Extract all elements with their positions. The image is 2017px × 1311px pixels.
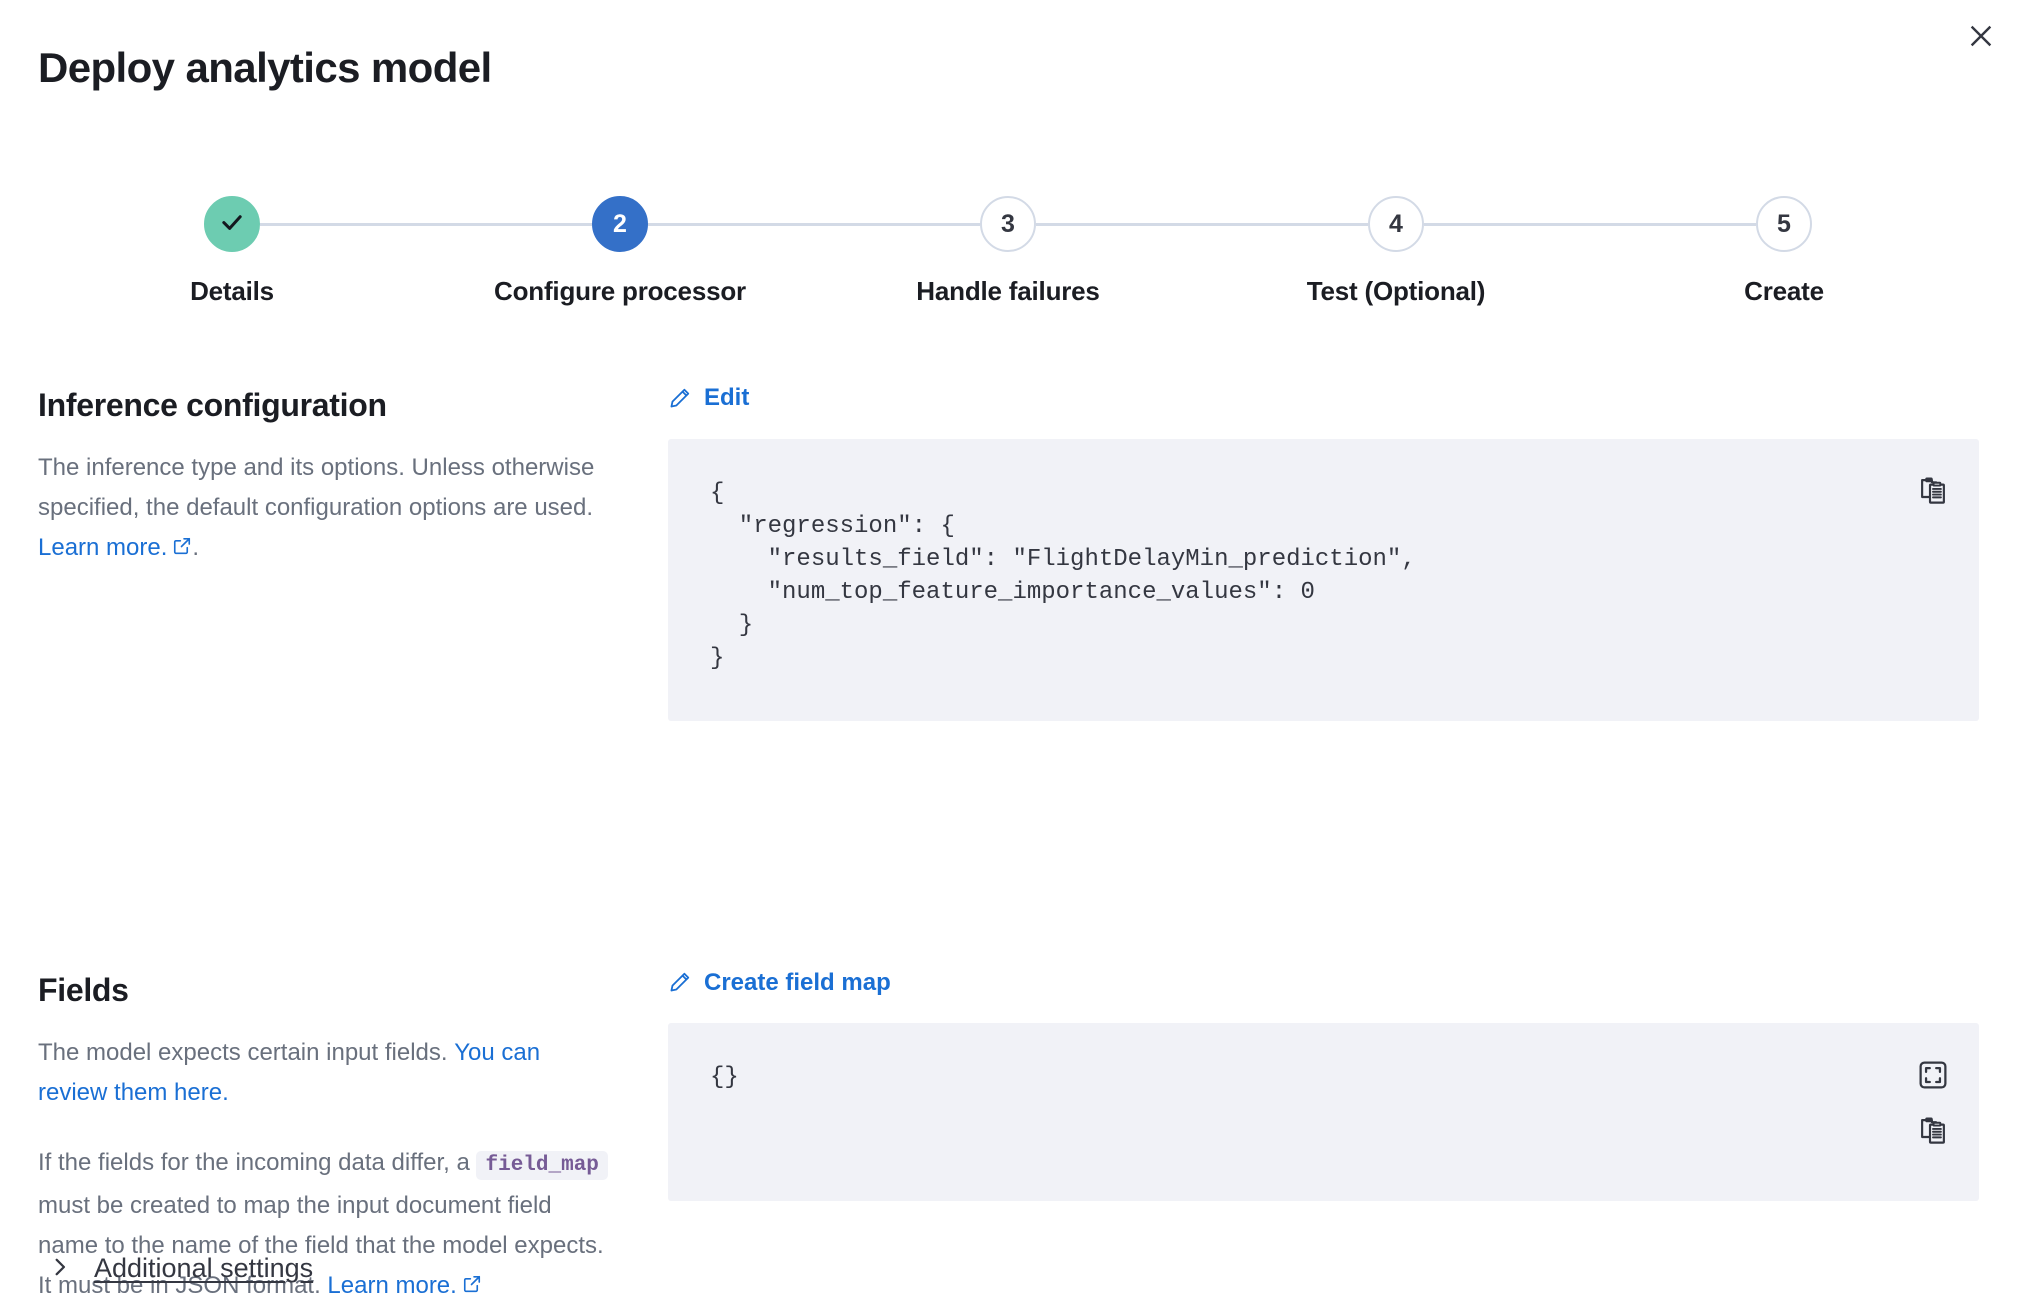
flyout-body: Inference configuration The inference ty… — [0, 386, 2017, 1307]
copy-icon — [1918, 494, 1948, 509]
expand-icon — [1918, 1078, 1948, 1093]
close-icon — [1968, 23, 1994, 49]
field-map-code-text: {} — [710, 1061, 1879, 1094]
step-handle-failures[interactable]: 3 Handle failures — [814, 196, 1202, 307]
step-indicator-2: 2 — [592, 196, 648, 252]
field-map-code-actions — [1915, 1057, 1951, 1149]
step-test-optional[interactable]: 4 Test (Optional) — [1202, 196, 1590, 307]
inference-description-trailing: . — [192, 534, 199, 561]
copy-field-map-button[interactable] — [1915, 1113, 1951, 1149]
inference-config-code-text: { "regression": { "results_field": "Flig… — [710, 477, 1879, 675]
step-indicator-1 — [204, 196, 260, 252]
step-label-2: Configure processor — [494, 276, 746, 307]
external-link-icon — [172, 529, 192, 569]
page-title: Deploy analytics model — [38, 44, 492, 92]
deploy-analytics-model-flyout: Deploy analytics model Details 2 Configu… — [0, 0, 2017, 1311]
step-configure-processor[interactable]: 2 Configure processor — [426, 196, 814, 307]
pencil-icon — [668, 387, 691, 410]
inference-configuration-title: Inference configuration — [38, 386, 608, 424]
chevron-right-icon — [48, 1255, 72, 1282]
step-label-1: Details — [190, 276, 274, 307]
check-icon — [218, 208, 246, 241]
edit-inference-config-label: Edit — [704, 386, 749, 410]
copy-inference-config-button[interactable] — [1915, 473, 1951, 509]
inference-configuration-description-column: Inference configuration The inference ty… — [38, 386, 668, 569]
additional-settings-toggle[interactable]: Additional settings — [48, 1253, 313, 1284]
inference-config-code-actions — [1915, 473, 1951, 509]
inference-configuration-section: Inference configuration The inference ty… — [0, 386, 2017, 721]
step-details[interactable]: Details — [38, 196, 426, 307]
fields-title: Fields — [38, 971, 608, 1009]
fields-editor-column: Create field map {} — [668, 971, 1979, 1202]
step-indicator-4: 4 — [1368, 196, 1424, 252]
expand-field-map-button[interactable] — [1915, 1057, 1951, 1093]
inference-configuration-description: The inference type and its options. Unle… — [38, 448, 608, 569]
inference-config-code-block[interactable]: { "regression": { "results_field": "Flig… — [668, 439, 1979, 721]
fields-description-1: The model expects certain input fields. … — [38, 1033, 608, 1113]
additional-settings-label: Additional settings — [94, 1253, 313, 1284]
step-indicator-3: 3 — [980, 196, 1036, 252]
fields-description-1-text: The model expects certain input fields. — [38, 1039, 454, 1066]
step-create[interactable]: 5 Create — [1590, 196, 1978, 307]
close-button[interactable] — [1959, 14, 2003, 58]
create-field-map-label: Create field map — [704, 971, 891, 995]
inference-configuration-editor-column: Edit { "regression": { "results_field": … — [668, 386, 1979, 721]
step-indicator-5: 5 — [1756, 196, 1812, 252]
fields-learn-more-link[interactable]: Learn more. — [327, 1272, 456, 1299]
step-label-3: Handle failures — [916, 276, 1099, 307]
external-link-icon — [462, 1267, 482, 1307]
wizard-stepper: Details 2 Configure processor 3 Handle f… — [38, 196, 1978, 316]
field-map-code-token: field_map — [476, 1151, 607, 1180]
create-field-map-button[interactable]: Create field map — [668, 971, 891, 995]
inference-learn-more-link[interactable]: Learn more. — [38, 534, 167, 561]
copy-icon — [1918, 1134, 1948, 1149]
edit-inference-config-button[interactable]: Edit — [668, 386, 749, 410]
step-label-4: Test (Optional) — [1307, 276, 1486, 307]
step-label-5: Create — [1744, 276, 1824, 307]
inference-description-text: The inference type and its options. Unle… — [38, 454, 594, 521]
fields-description-2-before: If the fields for the incoming data diff… — [38, 1149, 476, 1176]
pencil-icon — [668, 971, 691, 994]
field-map-code-block[interactable]: {} — [668, 1023, 1979, 1201]
